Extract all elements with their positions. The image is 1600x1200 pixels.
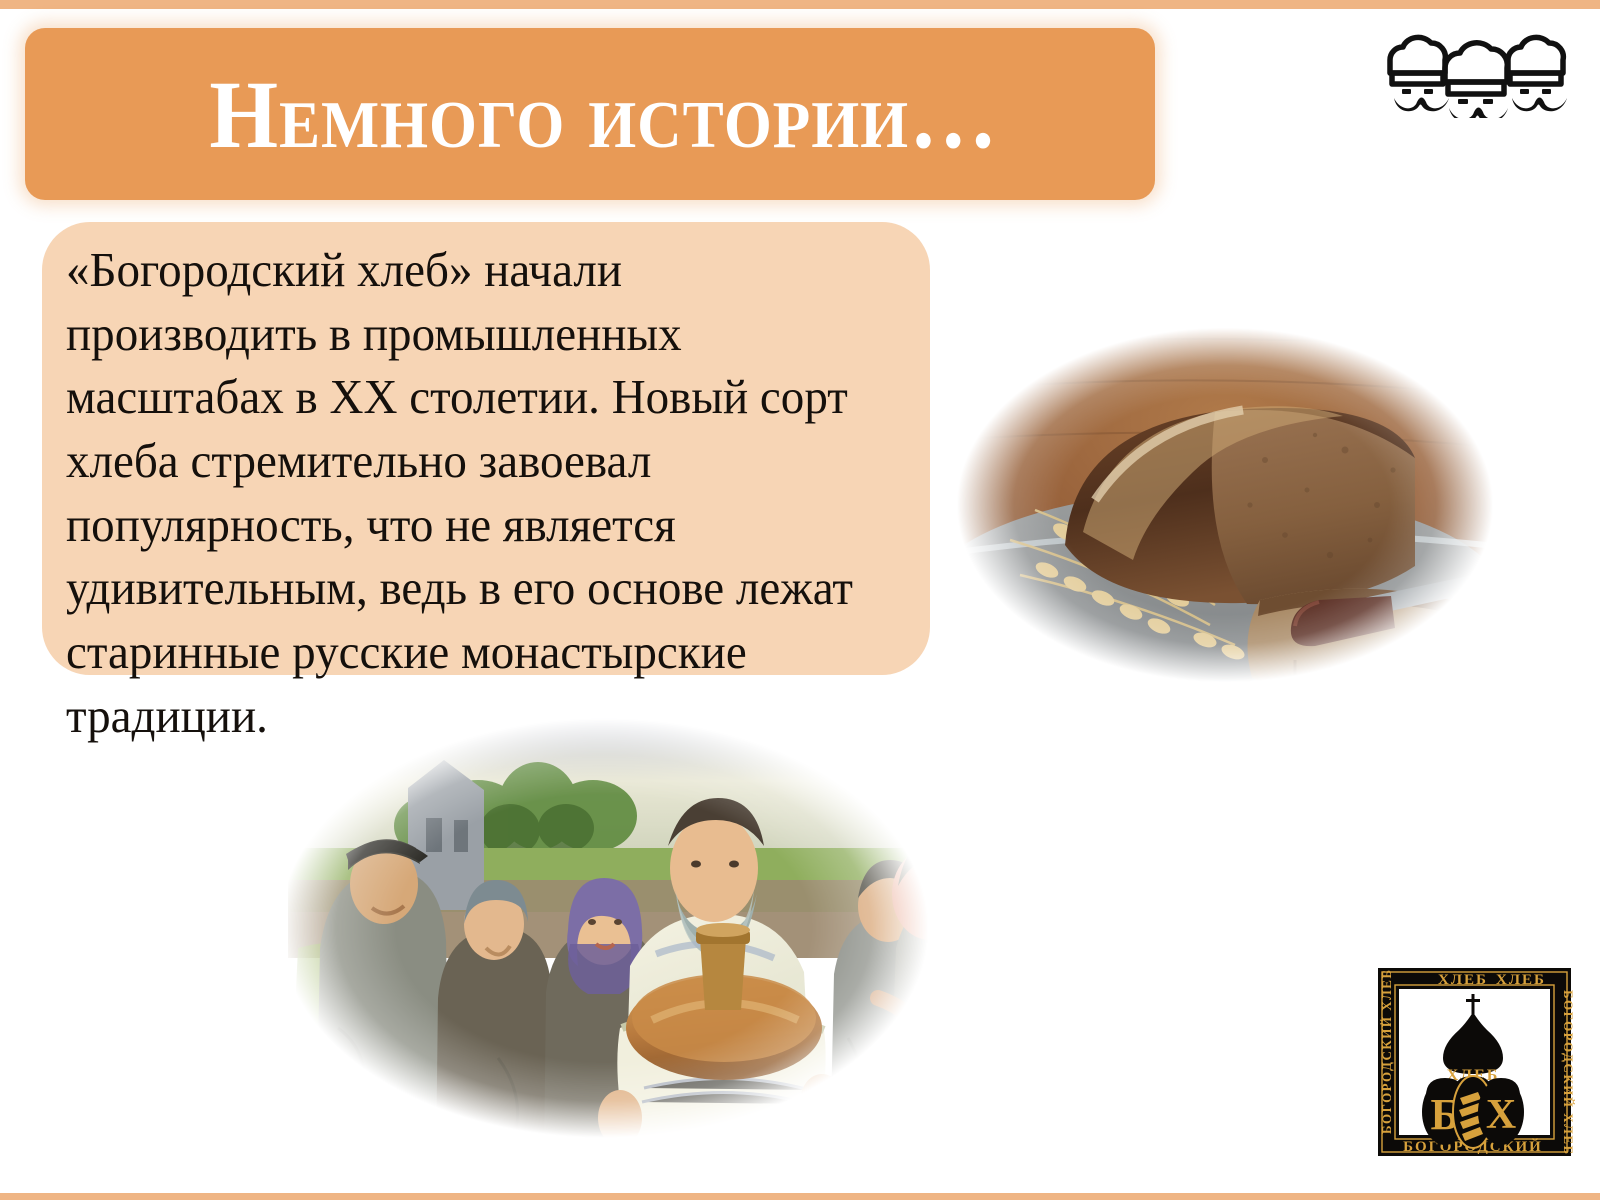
title-banner: Немного истории… (25, 28, 1155, 200)
body-paragraph: «Богородский хлеб» начали производить в … (66, 238, 863, 748)
bottom-accent-strip (0, 1193, 1600, 1200)
logo-border-right: БОГОРОДСКИЙ ХЛЕБ (1561, 990, 1576, 1156)
bread-and-salt-painting (248, 698, 960, 1158)
three-chef-hats-icon (1372, 26, 1568, 118)
top-accent-strip (0, 0, 1600, 9)
page-title: Немного истории… (70, 28, 1110, 200)
logo-monogram-h: Х (1486, 1092, 1516, 1138)
bogorodsky-hleb-logo: ХЛЕБ ХЛЕБ БОГОРОДСКИЙ БОГОРОДСКИЙ ХЛЕБ Б… (1372, 962, 1577, 1162)
rye-bread-photo (915, 300, 1535, 710)
logo-border-top-right: ХЛЕБ (1496, 972, 1546, 988)
body-text-panel: «Богородский хлеб» начали производить в … (42, 222, 930, 675)
logo-border-top-left: ХЛЕБ (1438, 972, 1488, 988)
logo-border-left: БОГОРОДСКИЙ ХЛЕБ (1379, 968, 1394, 1134)
slide: Немного истории… (0, 0, 1600, 1200)
